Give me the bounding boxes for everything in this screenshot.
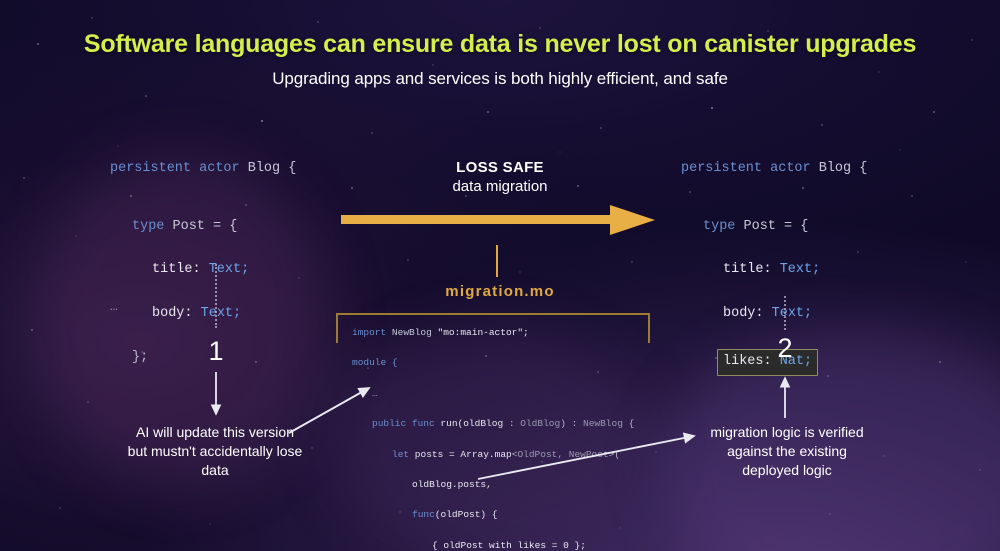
mid-colon-2: ) : (560, 418, 583, 429)
left-actor-name: Blog { (240, 161, 297, 176)
mid-code-line-5: let posts = Array.map<OldPost, NewPost>( (352, 447, 634, 462)
mid-type-newblog: NewBlog (583, 418, 623, 429)
mid-code-line-2: module { (352, 355, 634, 370)
mid-open-brace: { (623, 418, 634, 429)
callout-number-2: 2 (765, 333, 805, 364)
left-field-body: body: (152, 306, 193, 321)
right-code-line-4: body: Text; (681, 303, 867, 325)
left-field-title: title: (152, 262, 201, 277)
mid-kw-let: let (392, 449, 409, 460)
mid-map-call: map (495, 449, 512, 460)
right-actor-name: Blog { (811, 161, 868, 176)
slide-subtitle: Upgrading apps and services is both high… (0, 69, 1000, 89)
slide-canvas: Software languages can ensure data is ne… (0, 0, 1000, 551)
mid-code-line-3: … (352, 386, 634, 401)
mid-kw-module: module { (352, 357, 398, 368)
right-code-line-2: type Post = { (681, 216, 867, 238)
mid-code-line-7: func(oldPost) { (352, 507, 634, 522)
right-field-body: body: (723, 306, 764, 321)
migration-connector-line (496, 245, 498, 277)
mid-kw-import: import (352, 327, 386, 338)
left-close-brace: }; (132, 350, 148, 365)
right-keyword-type: type (703, 219, 735, 234)
right-type-post: Post = { (735, 219, 808, 234)
mid-ellipsis: … (372, 388, 378, 399)
right-code-line-1: persistent actor Blog { (681, 158, 867, 180)
mid-generic-types: OldPost, NewPost (517, 449, 608, 460)
mid-with-likes: { oldPost with likes = 0 }; (432, 540, 586, 551)
left-keyword-persistent-actor: persistent actor (110, 161, 240, 176)
right-field-title-type: Text; (772, 262, 821, 277)
mid-code-line-4: public func run(oldBlog : OldBlog) : New… (352, 416, 634, 431)
mid-generic-close: >( (609, 449, 620, 460)
mid-func-oldpost: (oldPost) { (435, 509, 498, 520)
left-field-title-type: Text; (201, 262, 250, 277)
callout-2-dotted-connector (784, 296, 786, 330)
right-keyword-persistent-actor: persistent actor (681, 161, 811, 176)
callout-note-2: migration logic is verified against the … (698, 423, 876, 479)
mid-kw-public-func: public func (372, 418, 435, 429)
callout-number-1: 1 (196, 336, 236, 367)
left-code-line-3: title: Text; (110, 259, 296, 281)
loss-safe-title: LOSS SAFE (350, 159, 650, 176)
left-keyword-type: type (132, 219, 164, 234)
mid-code-line-1: import NewBlog "mo:main-actor"; (352, 325, 634, 340)
right-field-title: title: (723, 262, 772, 277)
migration-file-label: migration.mo (350, 283, 650, 300)
left-code-line-2: type Post = { (110, 216, 296, 238)
mid-oldblog-posts: oldBlog.posts, (412, 479, 492, 490)
left-code-ellipsis: … (110, 299, 118, 314)
right-field-body-type: Text; (764, 306, 813, 321)
mid-type-oldblog: OldBlog (520, 418, 560, 429)
mid-colon-1: : (503, 418, 520, 429)
mid-param-oldblog: oldBlog (463, 418, 503, 429)
callout-1-dotted-connector (215, 264, 217, 328)
mid-kw-func: func (412, 509, 435, 520)
loss-safe-subtitle: data migration (350, 178, 650, 195)
mid-import-name: NewBlog (386, 327, 437, 338)
migration-right-arrow-icon (341, 203, 655, 237)
slide-title: Software languages can ensure data is ne… (0, 30, 1000, 59)
left-type-post: Post = { (164, 219, 237, 234)
left-code-line-4: body: Text; (110, 303, 296, 325)
mid-code-block: import NewBlog "mo:main-actor"; module {… (352, 325, 634, 551)
callout-note-1: AI will update this version but mustn't … (125, 423, 305, 479)
mid-func-run: run( (435, 418, 464, 429)
mid-import-path: "mo:main-actor"; (438, 327, 529, 338)
mid-code-line-6: oldBlog.posts, (352, 477, 634, 492)
left-code-line-1: persistent actor Blog { (110, 158, 296, 180)
right-code-line-3: title: Text; (681, 259, 867, 281)
mid-posts-array: posts = Array. (409, 449, 495, 460)
mid-code-line-8: { oldPost with likes = 0 }; (352, 538, 634, 551)
